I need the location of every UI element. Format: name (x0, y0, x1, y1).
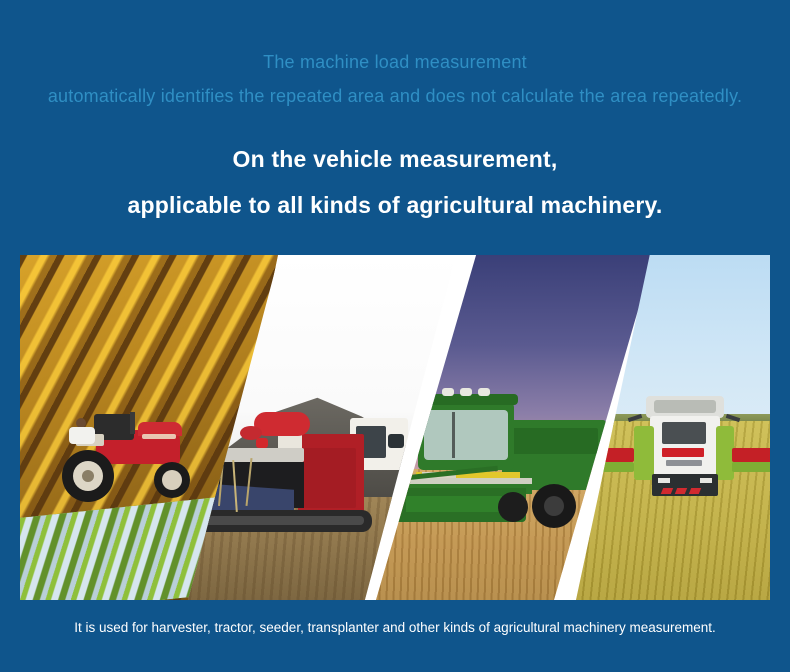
subheading-line-2: automatically identifies the repeated ar… (0, 79, 790, 113)
headline-block: On the vehicle measurement, applicable t… (0, 136, 790, 228)
headline-line-1: On the vehicle measurement, (0, 136, 790, 182)
tractor-icon (42, 412, 222, 504)
subheading-line-1: The machine load measurement (0, 45, 790, 79)
subheading-block: The machine load measurement automatical… (0, 45, 790, 113)
claas-lexion-icon (618, 396, 750, 508)
caption-block: It is used for harvester, tractor, seede… (0, 618, 790, 638)
collage-caption: It is used for harvester, tractor, seede… (0, 618, 790, 638)
promo-banner: The machine load measurement automatical… (0, 0, 790, 672)
headline-line-2: applicable to all kinds of agricultural … (0, 182, 790, 228)
image-collage (20, 255, 770, 600)
